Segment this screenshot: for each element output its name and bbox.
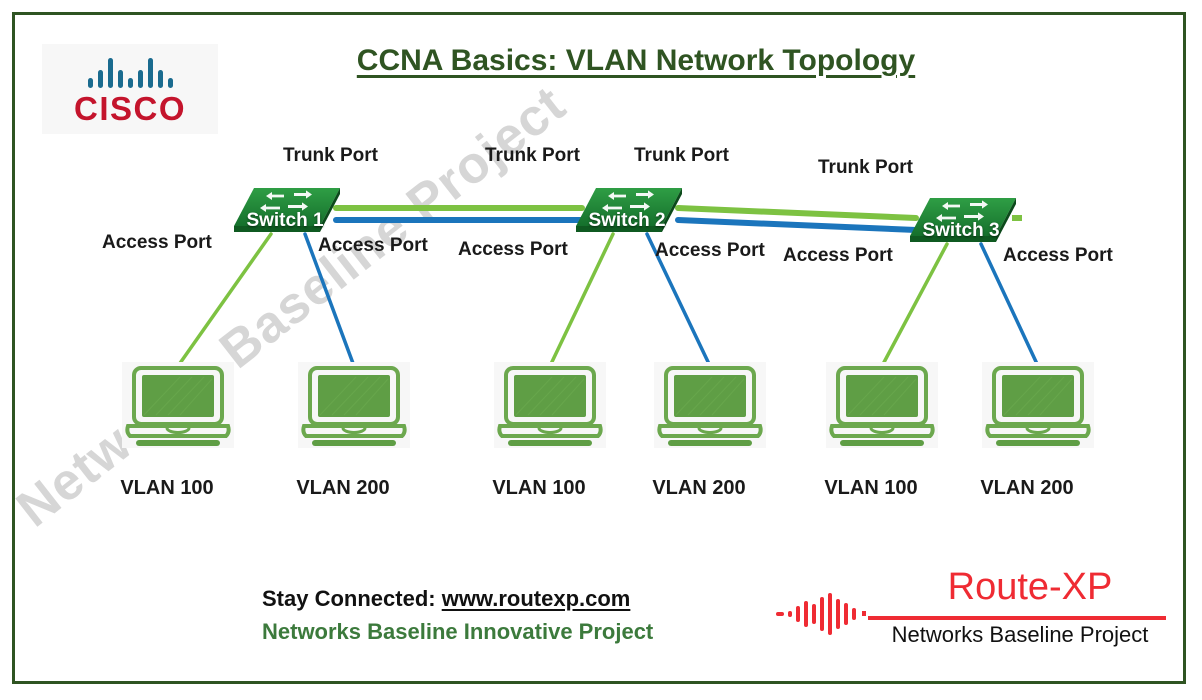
wave-bar-9 — [852, 608, 856, 620]
access-port-label-4: Access Port — [655, 240, 765, 262]
wave-bar-1 — [788, 611, 792, 617]
switch-node-switch-1[interactable]: Switch 1 — [232, 182, 342, 238]
stay-connected-label: Stay Connected: — [262, 586, 442, 611]
laptop-node-host-1[interactable] — [120, 360, 236, 456]
wave-bar-2 — [796, 606, 800, 622]
access-port-label-5: Access Port — [783, 245, 893, 267]
trunk-port-label-1: Trunk Port — [283, 145, 378, 167]
switch-label: Switch 1 — [226, 210, 344, 232]
access-port-label-6: Access Port — [1003, 245, 1113, 267]
switch-node-switch-2[interactable]: Switch 2 — [574, 182, 684, 238]
footer-contact: Stay Connected: www.routexp.com Networks… — [262, 586, 653, 645]
trunk-link-blue-2 — [678, 220, 916, 230]
wave-bar-3 — [804, 601, 808, 627]
laptop-icon — [980, 360, 1096, 456]
vlan-label-host-4: VLAN 200 — [624, 477, 774, 500]
laptop-icon — [824, 360, 940, 456]
switch-label: Switch 2 — [568, 210, 686, 232]
laptop-node-host-6[interactable] — [980, 360, 1096, 456]
stay-connected-line: Stay Connected: www.routexp.com — [262, 586, 653, 612]
wave-dash — [776, 612, 784, 616]
wave-bar-4 — [812, 604, 816, 624]
access-port-label-3: Access Port — [458, 239, 568, 261]
switch-label: Switch 3 — [902, 220, 1020, 242]
vlan-label-host-5: VLAN 100 — [796, 477, 946, 500]
switch-node-switch-3[interactable]: Switch 3 — [908, 192, 1018, 248]
footer-tagline: Networks Baseline Innovative Project — [262, 619, 653, 645]
routexp-subtitle: Networks Baseline Project — [874, 622, 1166, 648]
laptop-icon — [120, 360, 236, 456]
trunk-port-label-2: Trunk Port — [485, 145, 580, 167]
diagram-canvas: Networks Baseline Project CISCO CCNA Bas… — [0, 0, 1202, 700]
access-port-label-2: Access Port — [318, 235, 428, 257]
routexp-wordmark: Route-XP — [894, 568, 1166, 606]
vlan-label-host-3: VLAN 100 — [464, 477, 614, 500]
laptop-node-host-3[interactable] — [492, 360, 608, 456]
wave-bar-8 — [844, 603, 848, 625]
routexp-divider — [868, 616, 1166, 620]
wave-tail — [862, 611, 866, 616]
routexp-logo: Route-XP Networks Baseline Project — [776, 572, 1166, 650]
trunk-port-label-4: Trunk Port — [818, 157, 913, 179]
wave-bar-5 — [820, 597, 824, 631]
vlan-label-host-2: VLAN 200 — [268, 477, 418, 500]
laptop-node-host-2[interactable] — [296, 360, 412, 456]
laptop-icon — [296, 360, 412, 456]
vlan-label-host-6: VLAN 200 — [952, 477, 1102, 500]
access-port-label-1: Access Port — [102, 232, 212, 254]
laptop-icon — [492, 360, 608, 456]
wave-bar-7 — [836, 599, 840, 629]
vlan-label-host-1: VLAN 100 — [92, 477, 242, 500]
trunk-port-label-3: Trunk Port — [634, 145, 729, 167]
wave-bar-6 — [828, 593, 832, 635]
trunk-link-green-2 — [678, 208, 916, 218]
website-link[interactable]: www.routexp.com — [442, 586, 631, 611]
laptop-node-host-5[interactable] — [824, 360, 940, 456]
laptop-icon — [652, 360, 768, 456]
laptop-node-host-4[interactable] — [652, 360, 768, 456]
waveform-icon — [776, 590, 866, 638]
